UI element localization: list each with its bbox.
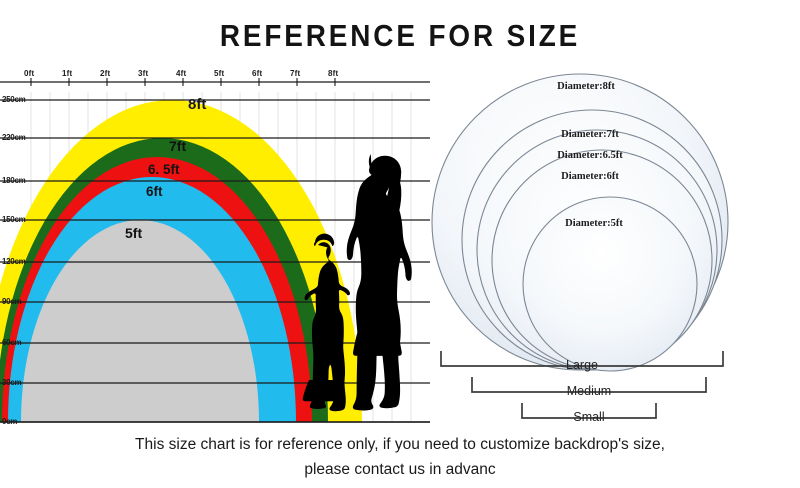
disc-label-5ft: Diameter:5ft (514, 218, 674, 229)
x-tick-2ft: 2ft (100, 69, 110, 78)
arc-label-7ft: 7ft (169, 138, 186, 154)
bracket-label-large: Large (502, 358, 662, 372)
x-tick-4ft: 4ft (176, 69, 186, 78)
x-tick-0ft: 0ft (24, 69, 34, 78)
disc-label-8ft: Diameter:8ft (506, 81, 666, 92)
y-tick-180cm: 180cm (2, 176, 25, 185)
disc-label-6-5ft: Diameter:6.5ft (510, 150, 670, 161)
bracket-label-medium: Medium (509, 384, 669, 398)
page-title: REFERENCE FOR SIZE (40, 18, 760, 54)
arc-label-6ft: 6ft (146, 184, 163, 199)
caption-line-1: This size chart is for reference only, i… (0, 432, 800, 457)
size-reference-chart: REFERENCE FOR SIZE (0, 0, 800, 488)
arc-label-6-5ft: 6. 5ft (148, 162, 180, 177)
chart-plot-area (0, 62, 430, 427)
height-comparison-chart: 250cm 220cm 180cm 150cm 120cm 90cm 60cm … (0, 62, 430, 427)
disc-diagram (430, 60, 740, 430)
x-tick-6ft: 6ft (252, 69, 262, 78)
disc-label-7ft: Diameter:7ft (510, 129, 670, 140)
footer-caption: This size chart is for reference only, i… (0, 432, 800, 482)
disc-size-panel: Diameter:8ft Diameter:7ft Diameter:6.5ft… (430, 60, 740, 370)
y-tick-120cm: 120cm (2, 257, 25, 266)
x-tick-5ft: 5ft (214, 69, 224, 78)
y-tick-220cm: 220cm (2, 133, 25, 142)
x-tick-1ft: 1ft (62, 69, 72, 78)
arc-label-8ft: 8ft (188, 96, 206, 113)
x-tick-8ft: 8ft (328, 69, 338, 78)
disc-label-6ft: Diameter:6ft (510, 171, 670, 182)
y-tick-0cm: 0cm (2, 417, 17, 426)
x-tick-7ft: 7ft (290, 69, 300, 78)
caption-line-2: please contact us in advanc (0, 457, 800, 482)
arc-label-5ft: 5ft (125, 225, 142, 241)
y-tick-60cm: 60cm (2, 338, 21, 347)
y-tick-90cm: 90cm (2, 297, 21, 306)
y-tick-150cm: 150cm (2, 215, 25, 224)
bracket-label-small: Small (509, 410, 669, 424)
y-tick-250cm: 250cm (2, 95, 25, 104)
x-tick-3ft: 3ft (138, 69, 148, 78)
y-tick-30cm: 30cm (2, 378, 21, 387)
